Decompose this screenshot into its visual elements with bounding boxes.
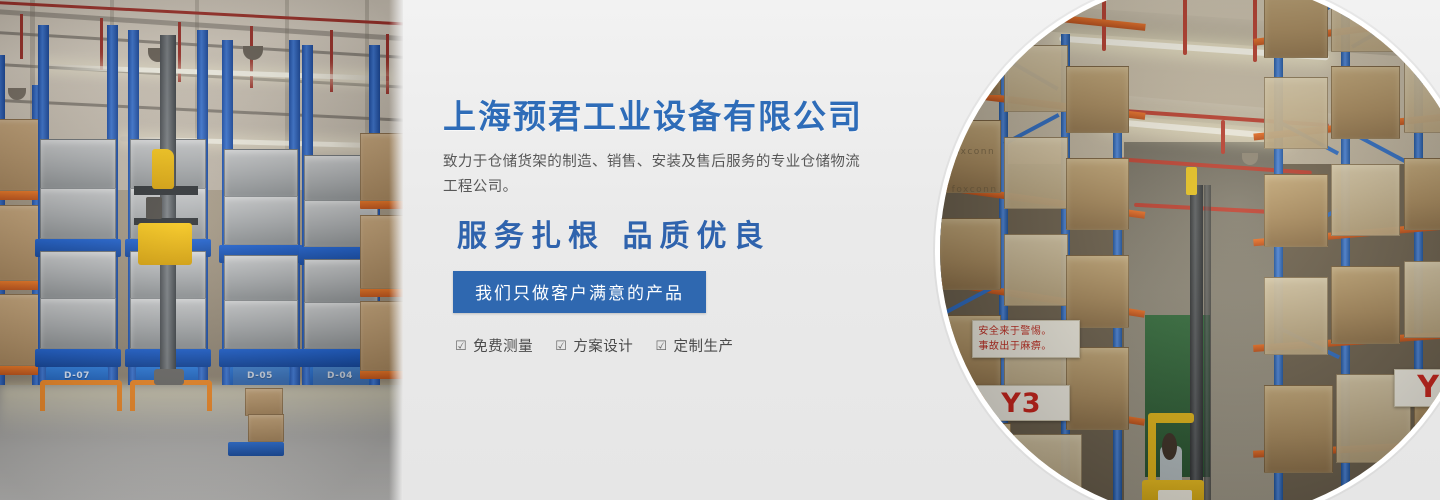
check-icon: ☑ <box>455 339 467 352</box>
company-title: 上海预君工业设备有限公司 <box>443 98 913 136</box>
feature-label: 定制生产 <box>673 335 733 356</box>
carton-brand: foxconn <box>942 0 988 6</box>
feature-item: ☑ 免费测量 <box>455 335 533 356</box>
feature-list: ☑ 免费测量 ☑ 方案设计 ☑ 定制生产 <box>455 335 913 356</box>
carton-brand: foxconn <box>945 21 991 31</box>
banner-stage: D-07 D-06 <box>0 0 1440 500</box>
left-warehouse-photo: D-07 D-06 <box>0 0 403 500</box>
feature-label: 免费测量 <box>473 335 533 356</box>
company-subtitle: 致力于仓储货架的制造、销售、安装及售后服务的专业仓储物流工程公司。 <box>443 150 863 201</box>
cta-button[interactable]: 我们只做客户满意的产品 <box>453 271 706 313</box>
right-warehouse-photo: foxconn foxconn foxconn foxconn <box>940 0 1440 500</box>
feature-item: ☑ 方案设计 <box>555 335 633 356</box>
banner-copy: 上海预君工业设备有限公司 致力于仓储货架的制造、销售、安装及售后服务的专业仓储物… <box>443 98 913 356</box>
check-icon: ☑ <box>555 339 567 352</box>
company-slogan: 服务扎根 品质优良 <box>457 219 913 255</box>
feature-item: ☑ 定制生产 <box>655 335 733 356</box>
check-icon: ☑ <box>655 339 667 352</box>
feature-label: 方案设计 <box>573 335 633 356</box>
